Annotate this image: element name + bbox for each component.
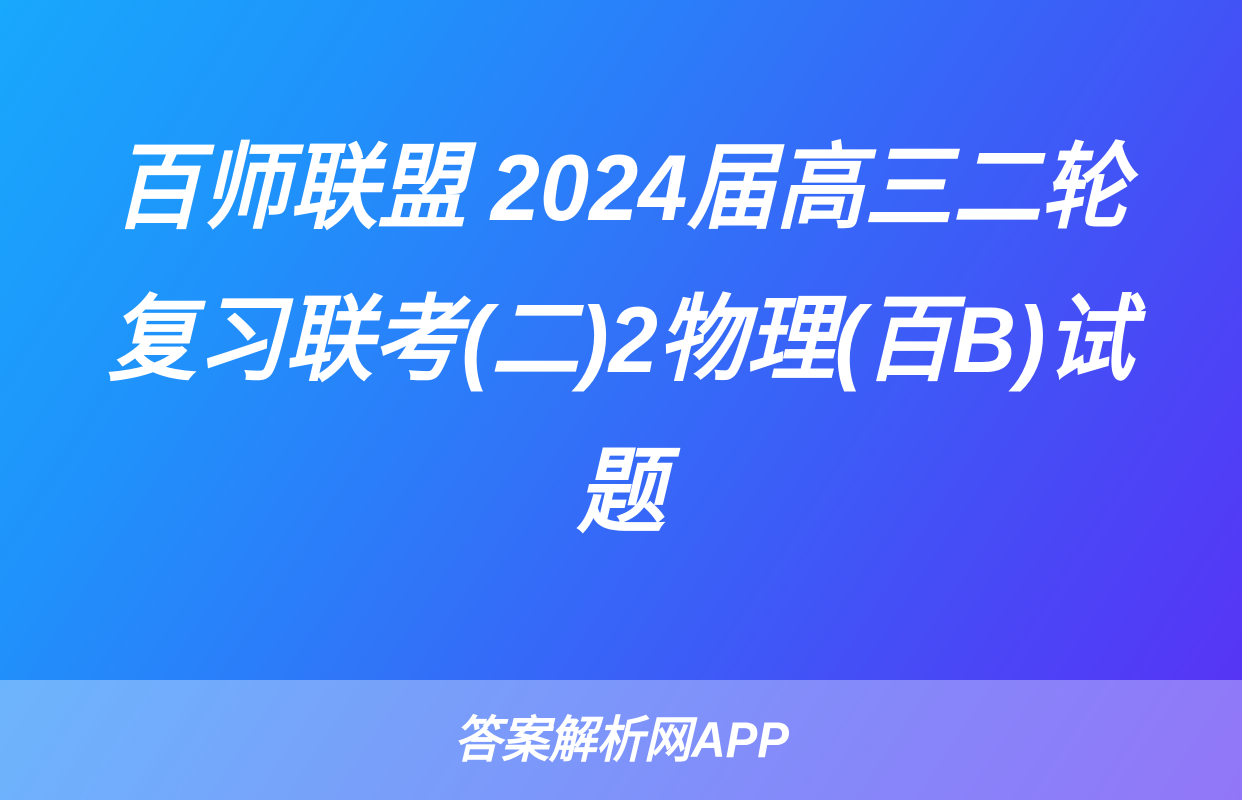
page-title: 百师联盟 2024届高三二轮复习联考(二)2物理(百B)试题 <box>103 112 1139 568</box>
footer-watermark-band: 答案解析网APP <box>0 680 1242 800</box>
watermark-text: 答案解析网APP <box>453 712 788 768</box>
title-container: 百师联盟 2024届高三二轮复习联考(二)2物理(百B)试题 <box>0 0 1242 680</box>
title-card: 百师联盟 2024届高三二轮复习联考(二)2物理(百B)试题 答案解析网APP <box>0 0 1242 800</box>
